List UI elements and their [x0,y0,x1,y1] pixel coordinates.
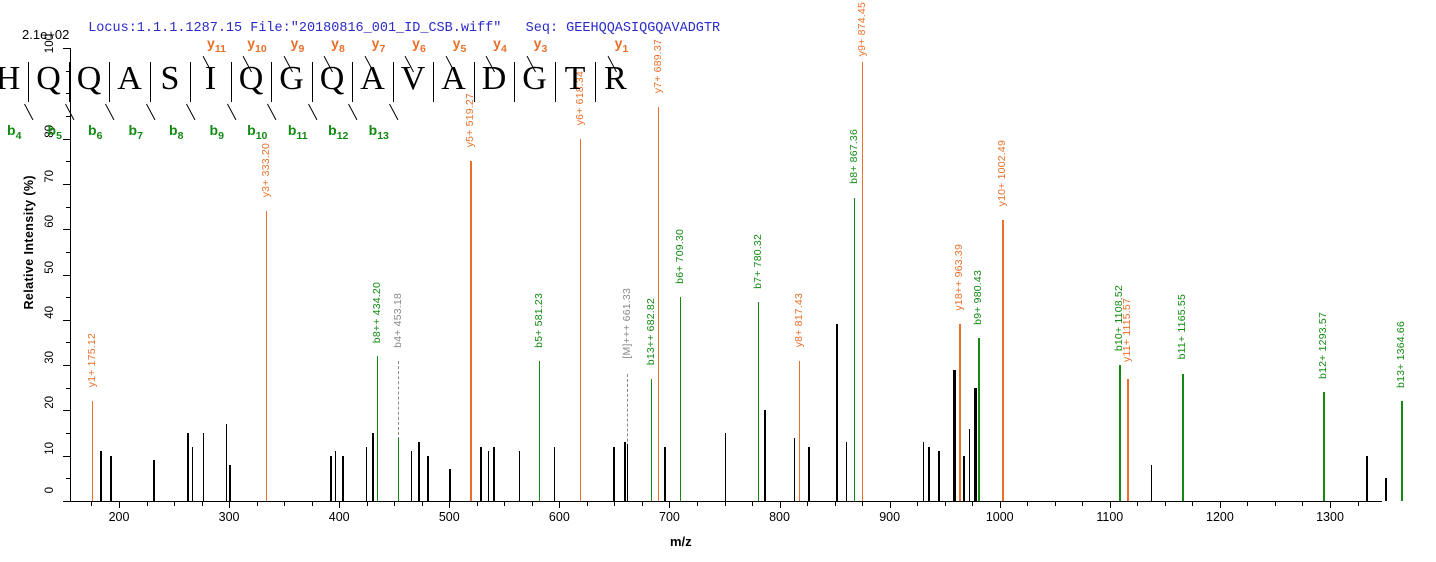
peak-bar [953,370,956,501]
x-minor-tick [312,501,313,506]
y-tick-0 [63,501,70,502]
peak-bar [153,460,155,501]
x-tick-300 [229,501,230,508]
sequence-divider [190,62,191,102]
y-tick-label-0: 0 [44,487,58,493]
spectrum-plot: Relative Intensity (%) m/z 0102030405060… [0,0,1436,562]
x-minor-tick [1165,501,1166,506]
y-ion-tag-y8: y8 [331,35,345,55]
sequence-residue: R [604,60,627,98]
x-minor-tick [835,501,836,506]
peak-bar [928,447,930,501]
peak-bar [1151,465,1153,501]
y-ion-tag-y5: y5 [453,35,467,55]
x-minor-tick [394,501,395,506]
x-minor-tick [1055,501,1056,506]
peak-bar [1323,392,1325,501]
x-minor-tick [725,501,726,506]
y-tick-10 [63,456,70,457]
x-minor-tick [862,501,863,506]
peak-bar [846,442,848,501]
peak-bar [1366,456,1368,501]
x-tick-900 [890,501,891,508]
x-minor-tick [202,501,203,506]
x-tick-1100 [1110,501,1111,508]
sequence-divider [514,62,515,102]
sequence-residue: S [161,60,180,98]
b-ion-tick [105,104,114,120]
x-axis-title: m/z [670,534,692,549]
x-tick-200 [119,501,120,508]
peak-label: b9+ 980.43 [972,270,984,325]
peak-bar [411,451,413,501]
peak-bar [758,302,760,501]
b-ion-tick [146,104,155,120]
sequence-divider [555,62,556,102]
x-tick-1300 [1330,501,1331,508]
peak-bar [226,424,228,501]
x-tick-1200 [1220,501,1221,508]
x-minor-tick [807,501,808,506]
b-ion-tick [308,104,317,120]
peak-label: y11+ 1115.57 [1121,298,1133,362]
peak-label: y8+ 817.43 [793,293,805,347]
x-minor-tick [642,501,643,506]
y-ion-tag-y7: y7 [372,35,386,55]
peak-bar [480,447,482,501]
peak-bar [1401,401,1403,501]
peak-bar [192,447,194,501]
peak-bar [427,456,429,501]
x-tick-800 [780,501,781,508]
peak-bar [335,451,337,501]
x-minor-tick [972,501,973,506]
b-ion-tag-b13: b13 [369,122,389,142]
x-minor-tick [1192,501,1193,506]
sequence-divider [150,62,151,102]
sequence-residue: A [117,60,142,98]
peak-bar [519,451,521,501]
b-ion-tick [65,104,74,120]
y-ion-tag-y9: y9 [291,35,305,55]
y-tick-100 [63,48,70,49]
y-ion-tag-y3: y3 [534,35,548,55]
peak-bar [488,451,490,501]
peak-label: y3+ 333.20 [260,143,272,197]
y-ion-tag-y6: y6 [412,35,426,55]
b-ion-tick [267,104,276,120]
peak-bar [680,297,682,501]
b-ion-tick [186,104,195,120]
x-axis-line [70,501,1382,502]
peak-label: y18++ 963.39 [953,244,965,311]
peak-bar [493,447,495,501]
x-minor-tick [1082,501,1083,506]
sequence-residue: I [205,60,216,98]
peak-label: b4+ 453.18 [392,293,404,348]
peptide-sequence-ladder: HQQASIQGQAVADGTRy11y10y9y8y7y6y5y4y3y1b4… [0,60,640,140]
peak-bar [580,139,582,501]
peak-bar [554,447,556,501]
x-tick-label-700: 700 [659,510,680,524]
peak-bar [862,62,864,501]
x-minor-tick [917,501,918,506]
sequence-residue: Q [239,60,264,98]
peak-bar [624,442,626,501]
y-ion-tag-y10: y10 [247,35,266,55]
x-tick-label-1300: 1300 [1316,510,1344,524]
x-minor-tick [91,501,92,506]
x-minor-tick [1027,501,1028,506]
b-ion-tick [24,104,33,120]
peak-label: y9+ 874.45 [856,2,868,56]
y-tick-label-30: 30 [44,351,58,364]
peak-bar [959,324,961,501]
peak-bar [799,361,801,501]
y-ion-tag-y1: y1 [615,35,629,55]
b-ion-tick [389,104,398,120]
y-tick-label-10: 10 [44,442,58,455]
sequence-divider [231,62,232,102]
x-tick-label-1100: 1100 [1096,510,1123,524]
peak-bar [398,438,400,501]
peak-bar [978,338,980,501]
b-ion-tag-b9: b9 [210,122,224,142]
x-minor-tick [477,501,478,506]
x-tick-label-200: 200 [109,510,130,524]
y-minor-tick [66,433,70,434]
b-ion-tag-b12: b12 [328,122,348,142]
x-minor-tick [1247,501,1248,506]
peak-bar [539,361,541,501]
peak-label: b8+ 867.36 [848,129,860,184]
y-minor-tick [66,207,70,208]
peak-bar [658,107,660,501]
sequence-residue: G [522,60,547,98]
y-tick-70 [63,184,70,185]
y-tick-60 [63,229,70,230]
y-tick-label-60: 60 [44,215,58,228]
x-minor-tick [257,501,258,506]
x-minor-tick [614,501,615,506]
x-tick-600 [559,501,560,508]
x-tick-label-800: 800 [769,510,790,524]
peak-bar [1385,478,1387,501]
peak-bar [764,410,766,501]
sequence-residue: Q [77,60,102,98]
b-ion-tag-b10: b10 [247,122,267,142]
b-ion-tag-b4: b4 [7,122,21,142]
sequence-divider [28,62,29,102]
peak-bar [372,433,374,501]
x-minor-tick [284,501,285,506]
peak-label: b11+ 1165.55 [1176,294,1188,359]
x-minor-tick [422,501,423,506]
sequence-residue: Q [320,60,345,98]
x-tick-label-900: 900 [879,510,900,524]
peak-bar [854,198,856,502]
sequence-divider [433,62,434,102]
peak-bar [449,469,451,501]
sequence-residue: T [565,60,586,98]
b-ion-tag-b5: b5 [48,122,62,142]
sequence-divider [312,62,313,102]
peak-label: [M]+++ 661.33 [621,288,633,359]
x-minor-tick [1302,501,1303,506]
peak-bar [229,465,231,501]
sequence-divider [69,62,70,102]
peak-bar [377,356,379,501]
b-ion-tick [348,104,357,120]
x-minor-tick [1358,501,1359,506]
peak-label: b6+ 709.30 [674,229,686,284]
peak-label: b5+ 581.23 [533,293,545,348]
x-minor-tick [532,501,533,506]
sequence-divider [352,62,353,102]
sequence-divider [109,62,110,102]
peak-bar [203,433,205,501]
sequence-residue: V [401,60,426,98]
b-ion-tag-b6: b6 [88,122,102,142]
peak-bar [963,456,965,501]
x-tick-label-400: 400 [329,510,350,524]
peak-bar [187,433,189,501]
y-tick-20 [63,410,70,411]
x-minor-tick [504,501,505,506]
x-minor-tick [1137,501,1138,506]
x-tick-label-600: 600 [549,510,570,524]
y-axis-title: Relative Intensity (%) [22,175,36,310]
b-ion-tag-b7: b7 [129,122,143,142]
y-tick-label-70: 70 [44,170,58,183]
peak-bar [366,447,368,501]
peak-bar [613,447,615,501]
sequence-residue: D [482,60,507,98]
peak-label: b13+ 1364.66 [1395,321,1407,388]
y-tick-label-20: 20 [44,396,58,409]
y-ion-tag-y11: y11 [207,35,226,55]
b-ion-tick [227,104,236,120]
peak-label: b8++ 434.20 [371,282,383,343]
x-minor-tick [367,501,368,506]
x-minor-tick [945,501,946,506]
peak-bar [342,456,344,501]
y-minor-tick [66,342,70,343]
peak-label: b13++ 682.82 [645,298,657,365]
y-minor-tick [66,161,70,162]
sequence-divider [474,62,475,102]
x-tick-700 [669,501,670,508]
x-minor-tick [587,501,588,506]
sequence-divider [393,62,394,102]
peak-bar [651,379,653,501]
sequence-divider [595,62,596,102]
peak-label: y10+ 1002.49 [996,140,1008,206]
sequence-residue: Q [36,60,61,98]
peak-bar [938,451,940,501]
peak-bar [1127,379,1129,501]
sequence-residue: G [279,60,304,98]
y-minor-tick [66,388,70,389]
x-tick-500 [449,501,450,508]
peak-bar [110,456,112,501]
x-tick-1000 [1000,501,1001,508]
b-ion-tag-b8: b8 [169,122,183,142]
x-minor-tick [147,501,148,506]
x-tick-label-1000: 1000 [986,510,1014,524]
y-ion-tag-y4: y4 [493,35,507,55]
peak-bar [330,456,332,501]
peak-bar [923,442,925,501]
x-minor-tick [1275,501,1276,506]
peak-bar [92,401,94,501]
x-tick-label-300: 300 [219,510,240,524]
peak-bar [627,444,629,501]
peak-bar [974,388,977,501]
peak-bar [794,438,796,501]
x-tick-label-500: 500 [439,510,460,524]
y-minor-tick [66,252,70,253]
peak-label: b12+ 1293.57 [1317,312,1329,379]
peak-bar [470,161,472,501]
y-minor-tick [66,297,70,298]
y-tick-label-40: 40 [44,306,58,319]
y-tick-50 [63,275,70,276]
peak-bar [266,211,268,501]
y-tick-label-100: 100 [44,34,58,53]
peak-label: b7+ 780.32 [752,234,764,289]
peak-bar [664,447,666,501]
peak-label: y1+ 175.12 [86,333,98,387]
peak-bar [808,447,810,501]
x-minor-tick [174,501,175,506]
sequence-residue: H [0,60,20,98]
y-tick-label-50: 50 [44,261,58,274]
peak-bar [1182,374,1184,501]
peak-bar [1119,365,1121,501]
x-tick-label-1200: 1200 [1206,510,1234,524]
y-tick-40 [63,320,70,321]
b-ion-tag-b11: b11 [288,122,308,142]
sequence-divider [271,62,272,102]
peak-bar [1002,220,1004,501]
x-minor-tick [752,501,753,506]
x-minor-tick [697,501,698,506]
peak-bar [418,442,420,501]
sequence-residue: A [360,60,385,98]
x-tick-400 [339,501,340,508]
peak-bar [836,324,839,501]
y-minor-tick [66,478,70,479]
peak-label: y7+ 689.37 [652,39,664,93]
peak-bar [969,429,971,501]
sequence-residue: A [441,60,466,98]
peak-bar [725,433,727,501]
y-tick-30 [63,365,70,366]
peak-bar [100,451,102,501]
